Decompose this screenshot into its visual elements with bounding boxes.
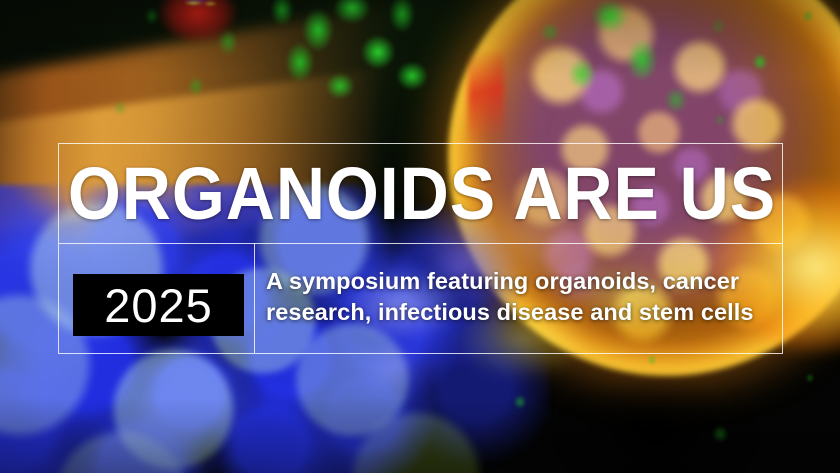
year-label: 2025	[104, 282, 213, 329]
page-title: ORGANOIDS ARE US	[94, 150, 751, 238]
symposium-poster: ORGANOIDS ARE US 2025 A symposium featur…	[0, 0, 840, 473]
text-frame-border: ORGANOIDS ARE US 2025 A symposium featur…	[58, 143, 783, 354]
year-badge: 2025	[73, 274, 244, 336]
subtitle-line-2: research, infectious disease and stem ce…	[266, 297, 771, 328]
subtitle-line-1: A symposium featuring organoids, cancer	[266, 266, 771, 297]
frame-horizontal-divider	[59, 243, 782, 244]
frame-vertical-divider	[254, 243, 255, 353]
subtitle-text: A symposium featuring organoids, cancer …	[266, 266, 771, 328]
